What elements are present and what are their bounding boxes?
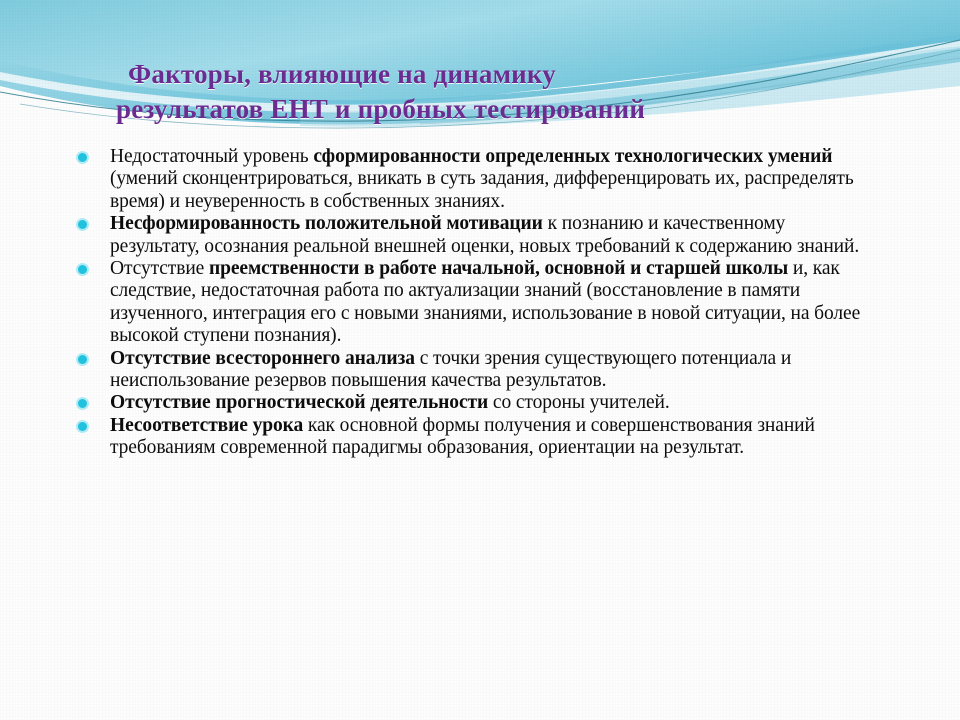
slide-title: Факторы, влияющие на динамику результато…: [108, 57, 808, 127]
bullet-item: Несоответствие урока как основной формы …: [78, 415, 878, 460]
bullet-item: Отсутствие преемственности в работе нача…: [78, 258, 878, 348]
bullet-item: Отсутствие прогностической деятельности …: [78, 392, 878, 414]
bullet-text-run: (умений сконцентрироваться, вникать в су…: [110, 168, 854, 211]
bullet-dot-glyph: [78, 355, 87, 364]
bullet-text-emphasis: сформированности определенных технологич…: [313, 146, 832, 167]
bullet-list: Недостаточный уровень сформированности о…: [78, 146, 878, 460]
bullet-text-emphasis: преемственности в работе начальной, осно…: [209, 258, 788, 279]
bullet-dot-glyph: [78, 153, 87, 162]
bullet-dot-glyph: [78, 265, 87, 274]
bullet-text-emphasis: Отсутствие прогностической деятельности: [110, 392, 488, 413]
presentation-slide: Факторы, влияющие на динамику результато…: [0, 0, 960, 720]
bullet-item: Несформированность положительной мотивац…: [78, 213, 878, 258]
bullet-dot-icon: [78, 415, 110, 431]
bullet-dot-icon: [78, 146, 110, 162]
bullet-text-emphasis: Несоответствие урока: [110, 415, 303, 436]
bullet-text-run: Недостаточный уровень: [110, 146, 313, 167]
bullet-dot-glyph: [78, 399, 87, 408]
bullet-item: Недостаточный уровень сформированности о…: [78, 146, 878, 213]
bullet-text: Недостаточный уровень сформированности о…: [110, 146, 878, 213]
bullet-text-emphasis: Отсутствие всестороннего анализа: [110, 348, 415, 369]
bullet-text-emphasis: Несформированность положительной мотивац…: [110, 213, 543, 234]
bullet-dot-icon: [78, 258, 110, 274]
bullet-dot-icon: [78, 348, 110, 364]
bullet-text: Отсутствие преемственности в работе нача…: [110, 258, 878, 348]
bullet-dot-icon: [78, 213, 110, 229]
bullet-text: Несоответствие урока как основной формы …: [110, 415, 878, 460]
bullet-text: Отсутствие прогностической деятельности …: [110, 392, 878, 414]
bullet-dot-glyph: [78, 220, 87, 229]
title-line-2: результатов ЕНТ и пробных тестирований: [108, 92, 808, 127]
bullet-text: Отсутствие всестороннего анализа с точки…: [110, 348, 878, 393]
bullet-dot-icon: [78, 392, 110, 408]
bullet-item: Отсутствие всестороннего анализа с точки…: [78, 348, 878, 393]
bullet-text-run: Отсутствие: [110, 258, 209, 279]
title-line-1: Факторы, влияющие на динамику: [108, 57, 808, 92]
bullet-text-run: со стороны учителей.: [488, 392, 670, 413]
bullet-dot-glyph: [78, 422, 87, 431]
bullet-text: Несформированность положительной мотивац…: [110, 213, 878, 258]
